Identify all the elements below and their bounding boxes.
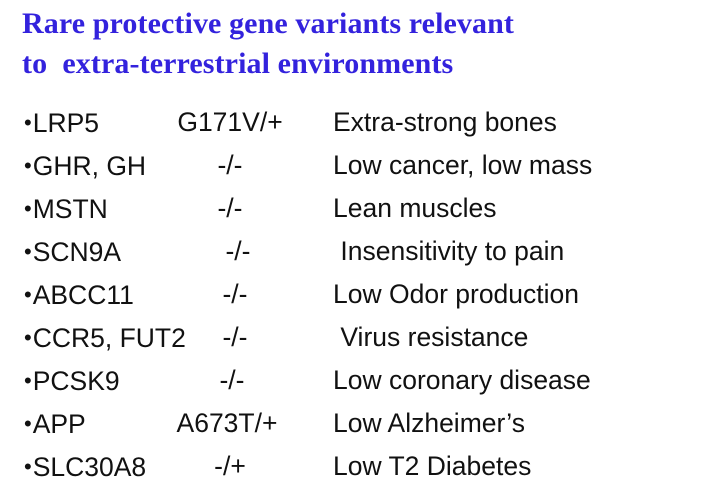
bullet-icon: • — [24, 187, 32, 230]
genotype-cell: -/- — [160, 273, 310, 316]
gene-row: •APPA673T/+Low Alzheimer’s — [0, 402, 720, 445]
genotype-cell: -/- — [155, 144, 305, 187]
phenotype-description: Low cancer, low mass — [333, 144, 718, 187]
title-line-2: to extra-terrestrial environments — [22, 44, 682, 84]
bullet-icon: • — [24, 144, 32, 187]
gene-symbol: GHR, GH — [33, 151, 146, 181]
genotype-cell: G171V/+ — [155, 101, 305, 144]
gene-symbol: ABCC11 — [33, 280, 134, 310]
gene-symbol: APP — [33, 409, 86, 439]
phenotype-description: Virus resistance — [333, 316, 718, 359]
phenotype-description: Low T2 Diabetes — [333, 445, 718, 488]
genotype-cell: -/- — [160, 316, 310, 359]
gene-variant-list: •LRP5G171V/+Extra-strong bones•GHR, GH-/… — [0, 101, 720, 488]
gene-row: •MSTN-/-Lean muscles — [0, 187, 720, 230]
gene-row: •GHR, GH-/-Low cancer, low mass — [0, 144, 720, 187]
genotype-cell: A673T/+ — [152, 402, 302, 445]
slide-title: Rare protective gene variants relevant t… — [22, 4, 682, 84]
genotype-cell: -/- — [163, 230, 313, 273]
bullet-icon: • — [24, 445, 32, 488]
gene-row: •PCSK9-/-Low coronary disease — [0, 359, 720, 402]
phenotype-description: Insensitivity to pain — [333, 230, 718, 273]
title-line-1: Rare protective gene variants relevant — [22, 4, 682, 44]
bullet-icon: • — [24, 273, 32, 316]
phenotype-description: Extra-strong bones — [333, 101, 718, 144]
bullet-icon: • — [24, 230, 32, 273]
gene-symbol: LRP5 — [33, 108, 99, 138]
genotype-cell: -/+ — [155, 445, 305, 488]
genotype-cell: -/- — [157, 359, 307, 402]
gene-row: •LRP5G171V/+Extra-strong bones — [0, 101, 720, 144]
gene-symbol: MSTN — [33, 194, 108, 224]
gene-row: •ABCC11-/-Low Odor production — [0, 273, 720, 316]
gene-row: •CCR5, FUT2-/- Virus resistance — [0, 316, 720, 359]
phenotype-description: Low Alzheimer’s — [333, 402, 718, 445]
bullet-icon: • — [24, 101, 32, 144]
gene-row: •SCN9A-/- Insensitivity to pain — [0, 230, 720, 273]
bullet-icon: • — [24, 316, 32, 359]
gene-row: •SLC30A8-/+Low T2 Diabetes — [0, 445, 720, 488]
phenotype-description: Lean muscles — [333, 187, 718, 230]
phenotype-description: Low Odor production — [333, 273, 718, 316]
gene-symbol: SLC30A8 — [33, 452, 146, 482]
slide-canvas: Rare protective gene variants relevant t… — [0, 0, 720, 503]
gene-symbol: PCSK9 — [33, 366, 120, 396]
phenotype-description: Low coronary disease — [333, 359, 718, 402]
gene-symbol: SCN9A — [33, 237, 121, 267]
genotype-cell: -/- — [155, 187, 305, 230]
bullet-icon: • — [24, 402, 32, 445]
bullet-icon: • — [24, 359, 32, 402]
